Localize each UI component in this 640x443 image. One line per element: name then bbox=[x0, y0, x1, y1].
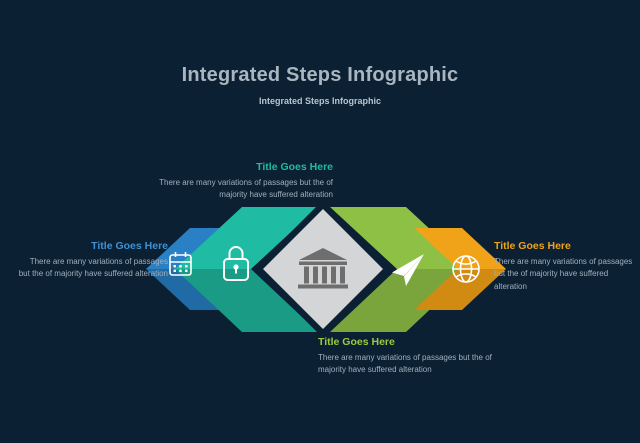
label-step-bottom-title: Title Goes Here bbox=[318, 336, 508, 348]
label-step-bottom-body: There are many variations of passages bu… bbox=[318, 352, 508, 377]
label-step-top-body: There are many variations of passages bu… bbox=[148, 177, 333, 202]
label-step-right-body: There are many variations of passages bu… bbox=[494, 256, 634, 293]
label-step-right-title: Title Goes Here bbox=[494, 240, 634, 252]
label-step-left-body: There are many variations of passages bu… bbox=[18, 256, 168, 281]
label-step-right: Title Goes Here There are many variation… bbox=[494, 240, 634, 293]
label-step-left-title: Title Goes Here bbox=[18, 240, 168, 252]
label-step-left: Title Goes Here There are many variation… bbox=[18, 240, 168, 281]
infographic-slide: Integrated Steps Infographic Integrated … bbox=[0, 0, 640, 443]
label-step-bottom: Title Goes Here There are many variation… bbox=[318, 336, 508, 377]
label-step-top-title: Title Goes Here bbox=[148, 161, 333, 173]
label-step-top: Title Goes Here There are many variation… bbox=[148, 161, 333, 202]
